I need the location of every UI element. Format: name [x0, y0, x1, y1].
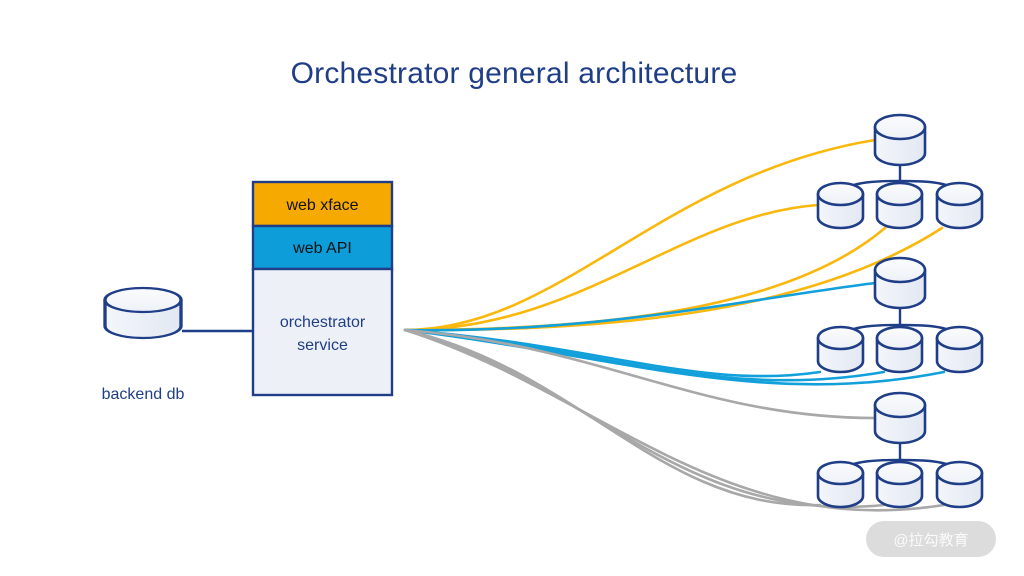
cluster-2-replica-1[interactable] [818, 327, 863, 372]
link-orange-replica-1 [405, 205, 818, 330]
cluster-3-replica-1[interactable] [818, 462, 863, 507]
orchestrator-service-label-line1: orchestrator [280, 314, 366, 331]
cluster-3 [818, 393, 982, 507]
cluster-2-links [405, 283, 944, 384]
orchestrator-section-service[interactable]: orchestrator service [253, 269, 392, 395]
cluster-2-replica-3[interactable] [937, 327, 982, 372]
cluster-3-replica-3[interactable] [937, 462, 982, 507]
orchestrator-box[interactable]: web xface web API orchestrator service [253, 182, 392, 395]
watermark-text: @拉勾教育 [893, 532, 968, 549]
cluster-3-replica-2[interactable] [877, 462, 922, 507]
cluster-3-master[interactable] [875, 393, 925, 443]
cluster-1-replica-2[interactable] [877, 183, 922, 228]
orchestrator-section-web-api[interactable]: web API [253, 226, 392, 269]
watermark: @拉勾教育 [866, 521, 996, 557]
architecture-diagram: Orchestrator general architecture [0, 0, 1024, 576]
link-orange-master [405, 140, 875, 330]
backend-db-label: backend db [102, 386, 185, 403]
web-api-label: web API [292, 240, 352, 257]
orchestrator-section-web-xface[interactable]: web xface [253, 182, 392, 226]
cluster-1-replica-1[interactable] [818, 183, 863, 228]
cluster-2-replica-2[interactable] [877, 327, 922, 372]
cluster-1 [818, 115, 982, 228]
cluster-2-master[interactable] [875, 258, 925, 308]
link-gray-replica-1 [405, 330, 820, 505]
cluster-1-links [405, 140, 942, 330]
cluster-1-master[interactable] [875, 115, 925, 165]
backend-db-node[interactable]: backend db [102, 288, 185, 403]
web-xface-label: web xface [285, 197, 358, 214]
slide-canvas: Orchestrator general architecture [0, 0, 1024, 576]
link-orange-replica-2 [405, 228, 885, 330]
page-title: Orchestrator general architecture [291, 57, 738, 90]
orchestrator-service-label-line2: service [297, 337, 348, 354]
cluster-1-replica-3[interactable] [937, 183, 982, 228]
